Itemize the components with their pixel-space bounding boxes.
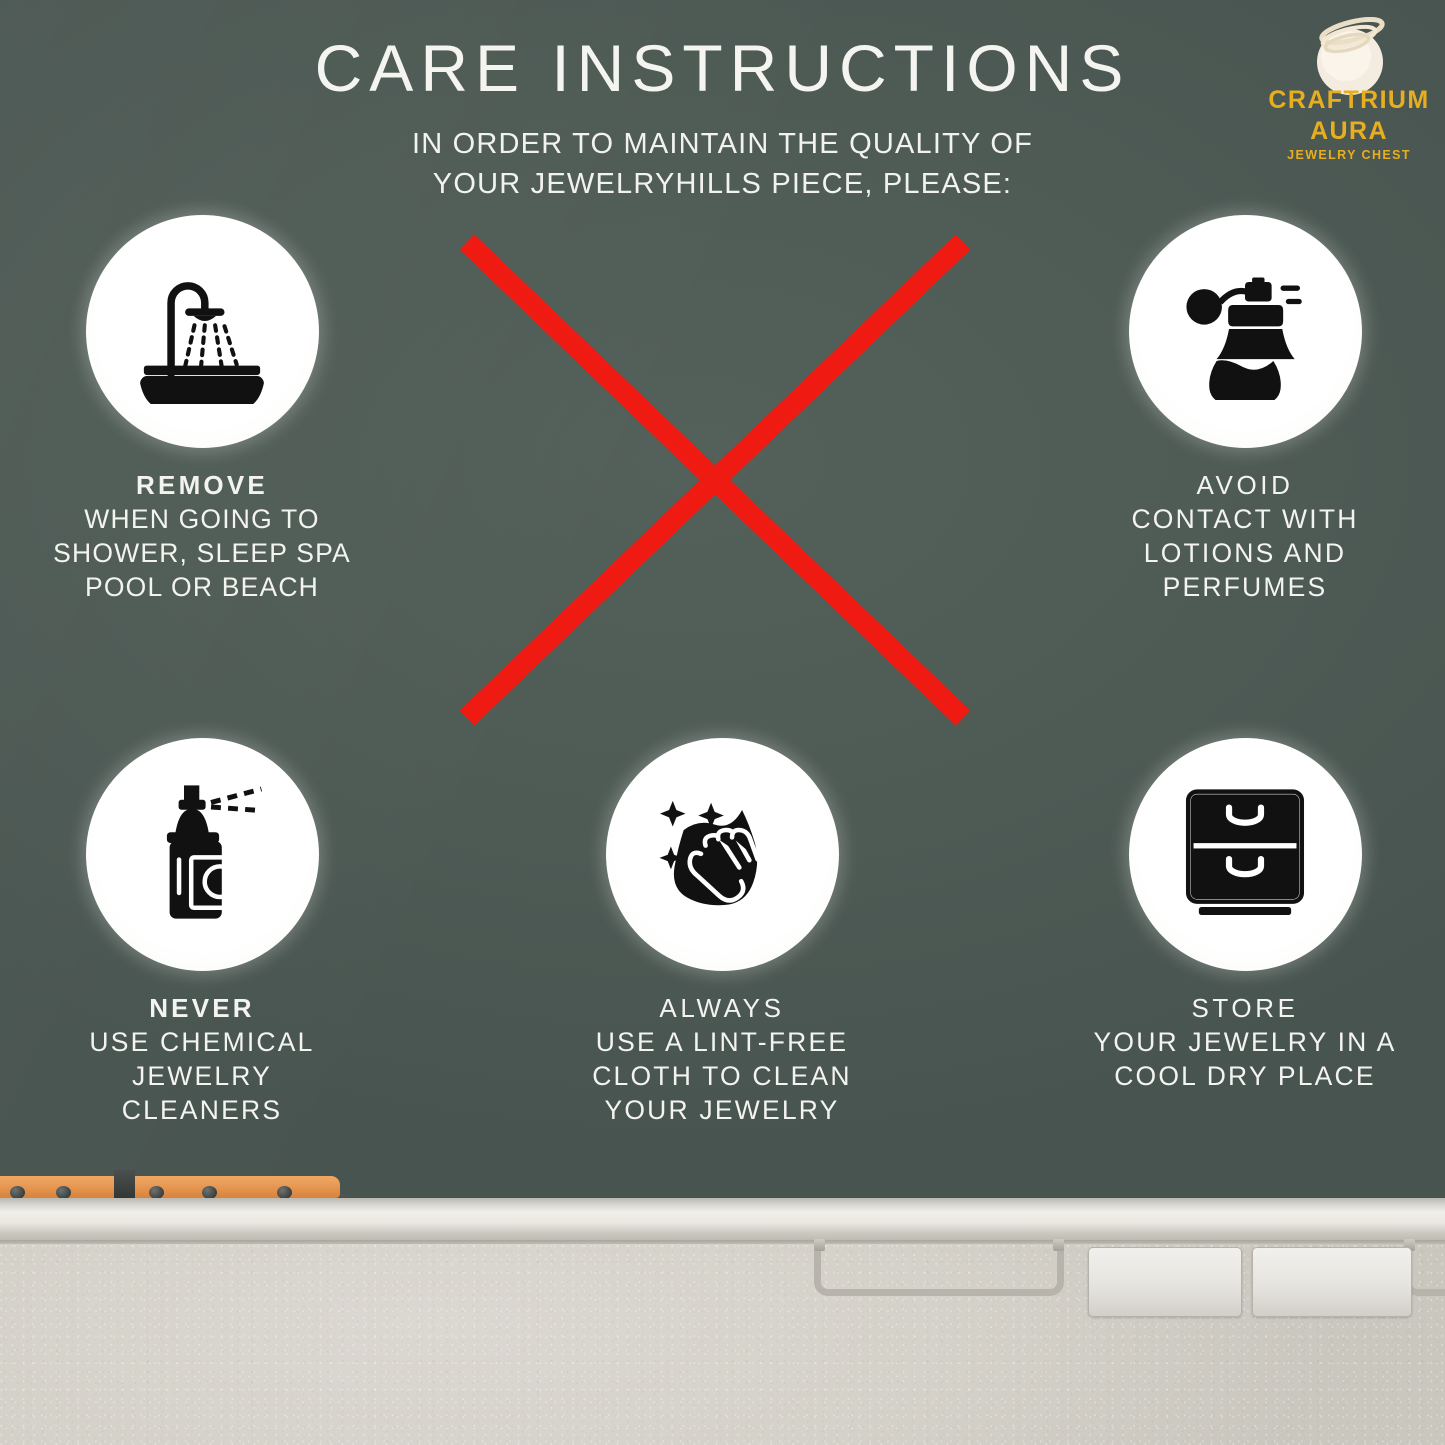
- logo-line-2: AURA: [1264, 117, 1434, 146]
- caption-body: USE A LINT-FREE CLOTH TO CLEAN YOUR JEWE…: [549, 1025, 895, 1127]
- caption-body-line: USE CHEMICAL: [29, 1025, 375, 1059]
- caption-body-line: YOUR JEWELRY IN A: [1072, 1025, 1418, 1059]
- icon-circle: [1129, 215, 1362, 448]
- caption-body-line: JEWELRY: [29, 1059, 375, 1093]
- subtitle-line-2: YOUR JEWELRYHILLS PIECE, PLEASE:: [0, 164, 1445, 204]
- card-caption: ALWAYS USE A LINT-FREE CLOTH TO CLEAN YO…: [549, 991, 895, 1127]
- care-card-never-chemicals: NEVER USE CHEMICAL JEWELRY CLEANERS: [29, 738, 375, 1127]
- caption-headline: AVOID: [1072, 468, 1418, 502]
- caption-body-line: POOL OR BEACH: [29, 570, 375, 604]
- brand-logo: CRAFTRIUM AURA JEWELRY CHEST: [1264, 14, 1434, 174]
- subtitle-line-1: IN ORDER TO MAINTAIN THE QUALITY OF: [0, 124, 1445, 164]
- caption-body-line: CONTACT WITH: [1072, 502, 1418, 536]
- care-card-always-cloth: ALWAYS USE A LINT-FREE CLOTH TO CLEAN YO…: [549, 738, 895, 1127]
- caption-body-line: CLOTH TO CLEAN: [549, 1059, 895, 1093]
- caption-body-line: LOTIONS AND: [1072, 536, 1418, 570]
- chalkboard-ledge: [0, 1198, 1445, 1246]
- caption-headline: STORE: [1072, 991, 1418, 1025]
- card-caption: STORE YOUR JEWELRY IN A COOL DRY PLACE: [1072, 991, 1418, 1093]
- caption-body: USE CHEMICAL JEWELRY CLEANERS: [29, 1025, 375, 1127]
- card-caption: REMOVE WHEN GOING TO SHOWER, SLEEP SPA P…: [29, 468, 375, 604]
- perfume-bottle-icon: [1174, 258, 1316, 405]
- card-caption: AVOID CONTACT WITH LOTIONS AND PERFUMES: [1072, 468, 1418, 604]
- caption-body: WHEN GOING TO SHOWER, SLEEP SPA POOL OR …: [29, 502, 375, 604]
- caption-headline: NEVER: [29, 991, 375, 1025]
- caption-body-line: PERFUMES: [1072, 570, 1418, 604]
- icon-circle: [86, 738, 319, 971]
- care-card-avoid-lotions: AVOID CONTACT WITH LOTIONS AND PERFUMES: [1072, 215, 1418, 604]
- cabinet-handle-icon[interactable]: [814, 1248, 1064, 1296]
- logo-line-3: JEWELRY CHEST: [1264, 148, 1434, 162]
- caption-headline: REMOVE: [29, 468, 375, 502]
- red-cross-icon: [455, 230, 975, 730]
- icon-circle: [86, 215, 319, 448]
- care-card-remove-shower: REMOVE WHEN GOING TO SHOWER, SLEEP SPA P…: [29, 215, 375, 604]
- caption-body-line: SHOWER, SLEEP SPA: [29, 536, 375, 570]
- care-instructions-poster: CARE INSTRUCTIONS IN ORDER TO MAINTAIN T…: [0, 0, 1445, 1445]
- caption-body-line: YOUR JEWELRY: [549, 1093, 895, 1127]
- page-subtitle: IN ORDER TO MAINTAIN THE QUALITY OF YOUR…: [0, 124, 1445, 204]
- caption-body-line: COOL DRY PLACE: [1072, 1059, 1418, 1093]
- caption-body-line: WHEN GOING TO: [29, 502, 375, 536]
- caption-body: CONTACT WITH LOTIONS AND PERFUMES: [1072, 502, 1418, 604]
- bathtub-shower-icon: [127, 254, 277, 409]
- label-plate[interactable]: [1088, 1247, 1242, 1317]
- caption-headline: ALWAYS: [549, 991, 895, 1025]
- hand-polishing-cloth-icon: [649, 779, 795, 930]
- care-card-store-cool-dry: STORE YOUR JEWELRY IN A COOL DRY PLACE: [1072, 738, 1418, 1093]
- caption-body-line: CLEANERS: [29, 1093, 375, 1127]
- icon-circle: [606, 738, 839, 971]
- page-title: CARE INSTRUCTIONS: [0, 30, 1445, 106]
- spray-can-icon: [130, 780, 274, 929]
- caption-body: YOUR JEWELRY IN A COOL DRY PLACE: [1072, 1025, 1418, 1093]
- icon-circle: [1129, 738, 1362, 971]
- caption-body-line: USE A LINT-FREE: [549, 1025, 895, 1059]
- label-plate[interactable]: [1252, 1247, 1412, 1317]
- logo-line-1: CRAFTRIUM: [1264, 86, 1434, 115]
- card-caption: NEVER USE CHEMICAL JEWELRY CLEANERS: [29, 991, 375, 1127]
- drawer-cabinet-icon: [1174, 781, 1316, 928]
